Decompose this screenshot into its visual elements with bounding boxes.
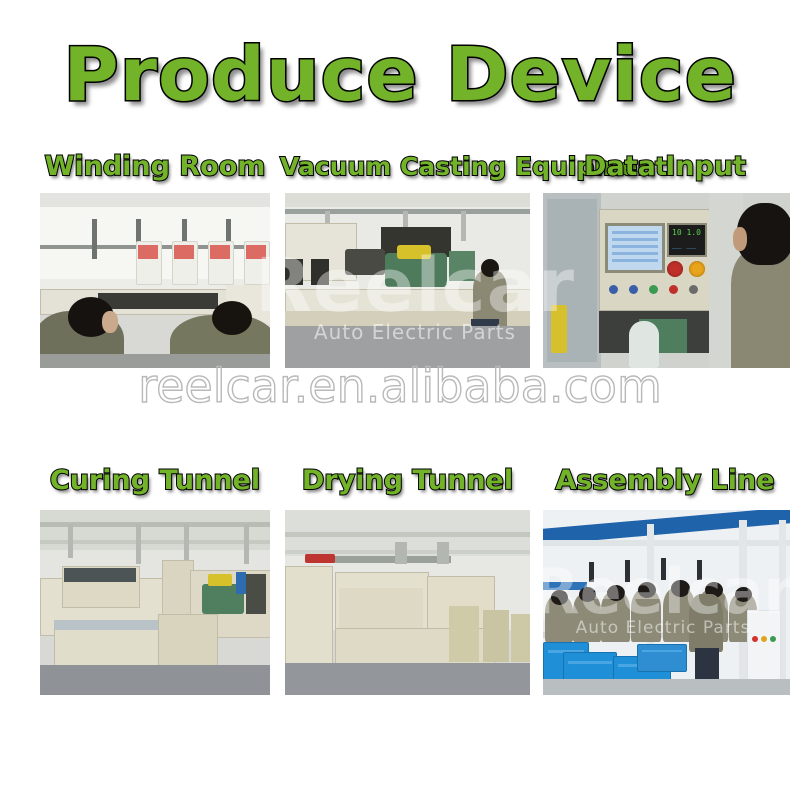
photo-winding-room-scene: [40, 193, 270, 368]
photo-assembly-line-scene: [543, 510, 790, 695]
photo-drying-tunnel: [285, 510, 530, 695]
page-title: Produce Device: [63, 38, 737, 112]
photo-curing-tunnel: [40, 510, 270, 695]
photo-curing-tunnel-scene: [40, 510, 270, 695]
caption-vacuum-casting-equipment: Vacuum Casting Equipment: [280, 152, 530, 182]
photo-vacuum-casting-scene: [285, 193, 530, 368]
photo-data-input-scene: 10 1.0 __ __: [543, 193, 790, 368]
page-title-wrap: Produce Device: [0, 38, 800, 112]
photo-assembly-line: [543, 510, 790, 695]
caption-curing-tunnel: Curing Tunnel: [40, 466, 270, 496]
produce-device-poster: Produce Device Winding Room Vacuum Casti…: [0, 0, 800, 800]
photo-winding-room: [40, 193, 270, 368]
photo-drying-tunnel-scene: [285, 510, 530, 695]
caption-drying-tunnel: Drying Tunnel: [285, 466, 530, 496]
caption-winding-room: Winding Room: [40, 152, 270, 182]
caption-data-input: Data Input: [540, 152, 790, 182]
photo-vacuum-casting-equipment: [285, 193, 530, 368]
caption-assembly-line: Assembly Line: [540, 466, 790, 496]
photo-data-input: 10 1.0 __ __: [543, 193, 790, 368]
